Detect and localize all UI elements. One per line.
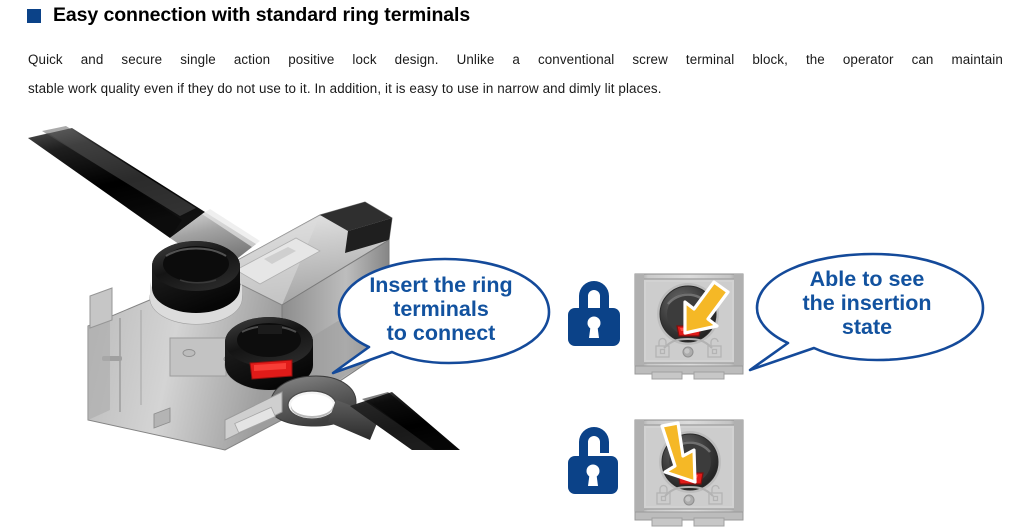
terminal-front-view-locked bbox=[632, 270, 746, 380]
insulated-cable-upper bbox=[28, 126, 205, 238]
body-paragraph-line-2: stable work quality even if they do not … bbox=[28, 81, 662, 96]
page-title: Easy connection with standard ring termi… bbox=[53, 4, 470, 27]
black-knob-upper bbox=[150, 241, 242, 324]
bullet-square-icon bbox=[27, 9, 41, 23]
body-paragraph-line-1: Quickandsecuresingleactionpositivelockde… bbox=[28, 52, 1003, 67]
padlock-locked-icon bbox=[566, 276, 622, 350]
title-row: Easy connection with standard ring termi… bbox=[27, 4, 470, 27]
figure-area: Insert the ring terminals to connect Abl… bbox=[0, 110, 1033, 450]
callout-bubble-insert-ring-terminals: Insert the ring terminals to connect bbox=[327, 255, 555, 377]
red-indicator-window bbox=[250, 360, 292, 379]
terminal-front-view-unlocked bbox=[632, 416, 746, 528]
callout-bubble-able-to-see-state: Able to see the insertion state bbox=[743, 250, 991, 374]
padlock-unlocked-icon bbox=[566, 422, 626, 498]
